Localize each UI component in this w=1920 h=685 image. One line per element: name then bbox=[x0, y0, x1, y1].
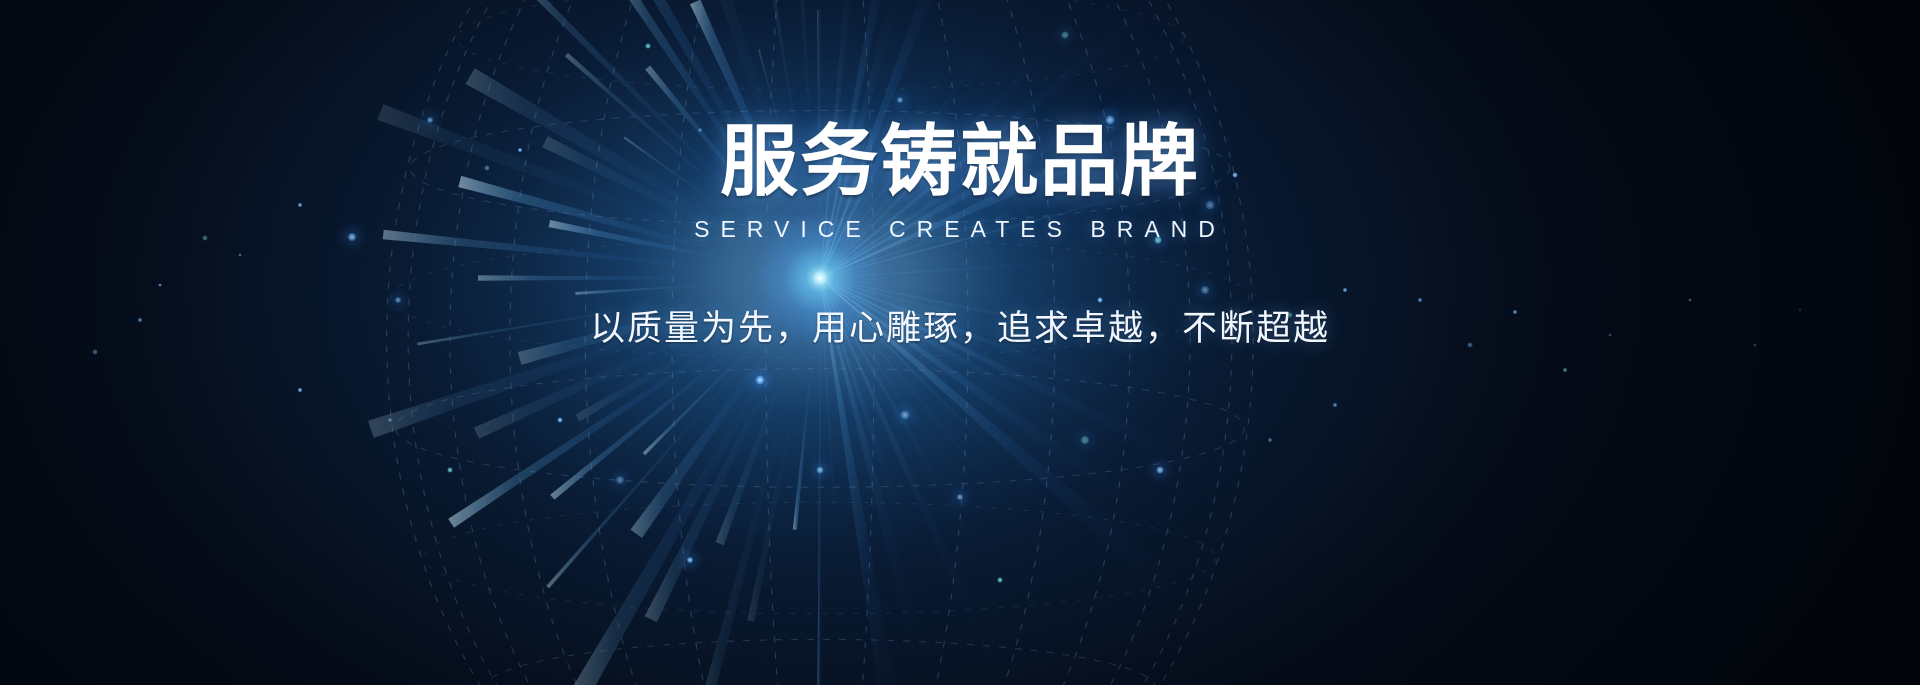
hero-banner: 服务铸就品牌 SERVICE CREATES BRAND 以质量为先，用心雕琢，… bbox=[0, 0, 1920, 685]
banner-headline-cn: 服务铸就品牌 bbox=[0, 122, 1920, 200]
banner-headline-en: SERVICE CREATES BRAND bbox=[0, 216, 1920, 243]
banner-content: 服务铸就品牌 SERVICE CREATES BRAND 以质量为先，用心雕琢，… bbox=[0, 0, 1920, 685]
banner-tagline: 以质量为先，用心雕琢，追求卓越，不断超越 bbox=[0, 300, 1920, 351]
